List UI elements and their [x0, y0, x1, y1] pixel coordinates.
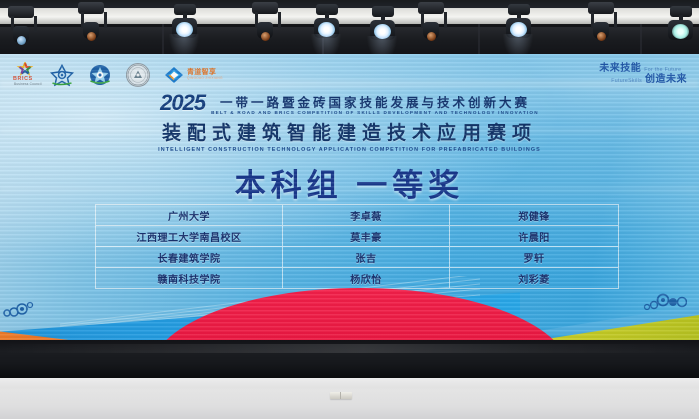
logo-strip: BRICS Business Council — [14, 62, 223, 88]
award-headline: 本科组 一等奖 — [0, 160, 699, 205]
floor-highlight — [0, 378, 699, 388]
cell-school: 江西理工大学南昌校区 — [96, 226, 283, 246]
event-title-cn: 一带一路暨金砖国家技能发展与技术创新大赛 — [220, 97, 530, 110]
event-title-en: BELT & ROAD AND BRICS COMPETITION OF SKI… — [211, 111, 539, 116]
sponsor-name: 青道智享 — [187, 69, 223, 76]
event-year: 2025 — [160, 90, 205, 116]
competition-emblem — [88, 63, 112, 87]
sponsor-name-en: QINGDAO ZHIXIANG — [187, 77, 223, 80]
cell-school: 广州大学 — [96, 205, 283, 225]
cell-member-a: 李卓薇 — [283, 205, 450, 225]
cell-member-b: 许晨阳 — [450, 226, 618, 246]
sponsor-logo: 青道智享 QINGDAO ZHIXIANG — [164, 66, 223, 84]
event-subtitle-cn: 装配式建筑智能建造技术应用赛项 — [0, 118, 699, 145]
futureskills-cn-line2: 创造未来 — [645, 75, 687, 86]
floor-object — [330, 392, 352, 399]
screen-bezel — [0, 340, 699, 378]
skills-star-emblem — [50, 63, 74, 87]
bezel-highlight — [0, 344, 699, 353]
cell-member-a: 张吉 — [283, 247, 450, 267]
stage-scene: BRICS Business Council — [0, 0, 699, 419]
ceiling-seam — [478, 24, 480, 56]
cell-school: 长春建筑学院 — [96, 247, 283, 267]
cell-member-a: 莫丰豪 — [283, 226, 450, 246]
table-row: 长春建筑学院 张吉 罗轩 — [96, 247, 618, 268]
futureskills-mark: 未来技能 For the Future FutureSkills 创造未来 — [599, 64, 687, 85]
award-headline-text: 本科组 一等奖 — [235, 168, 465, 203]
cell-member-b: 郑健锋 — [450, 205, 618, 225]
ceiling-seam — [162, 24, 164, 56]
futureskills-en-line2: FutureSkills — [611, 79, 642, 84]
event-subtitle-en: INTELLIGENT CONSTRUCTION TECHNOLOGY APPL… — [0, 147, 699, 153]
led-screen: BRICS Business Council — [0, 54, 699, 340]
organization-seal — [126, 63, 150, 87]
ceiling-truss — [0, 0, 699, 56]
cell-member-b: 罗轩 — [450, 247, 618, 267]
brics-logo: BRICS Business Council — [14, 62, 36, 88]
ceiling-seam — [640, 24, 642, 56]
gear-cluster-left — [2, 298, 36, 320]
table-row: 江西理工大学南昌校区 莫丰豪 许晨阳 — [96, 226, 618, 247]
futureskills-en-line1: For the Future — [644, 68, 681, 73]
gear-cluster-right — [643, 292, 687, 314]
decorative-band — [0, 276, 699, 340]
table-row: 广州大学 李卓薇 郑健锋 — [96, 205, 618, 226]
brics-subtext: Business Council — [14, 82, 42, 86]
futureskills-cn-line1: 未来技能 — [599, 64, 641, 75]
event-title-block: 2025 一带一路暨金砖国家技能发展与技术创新大赛 BELT & ROAD AN… — [0, 90, 699, 153]
